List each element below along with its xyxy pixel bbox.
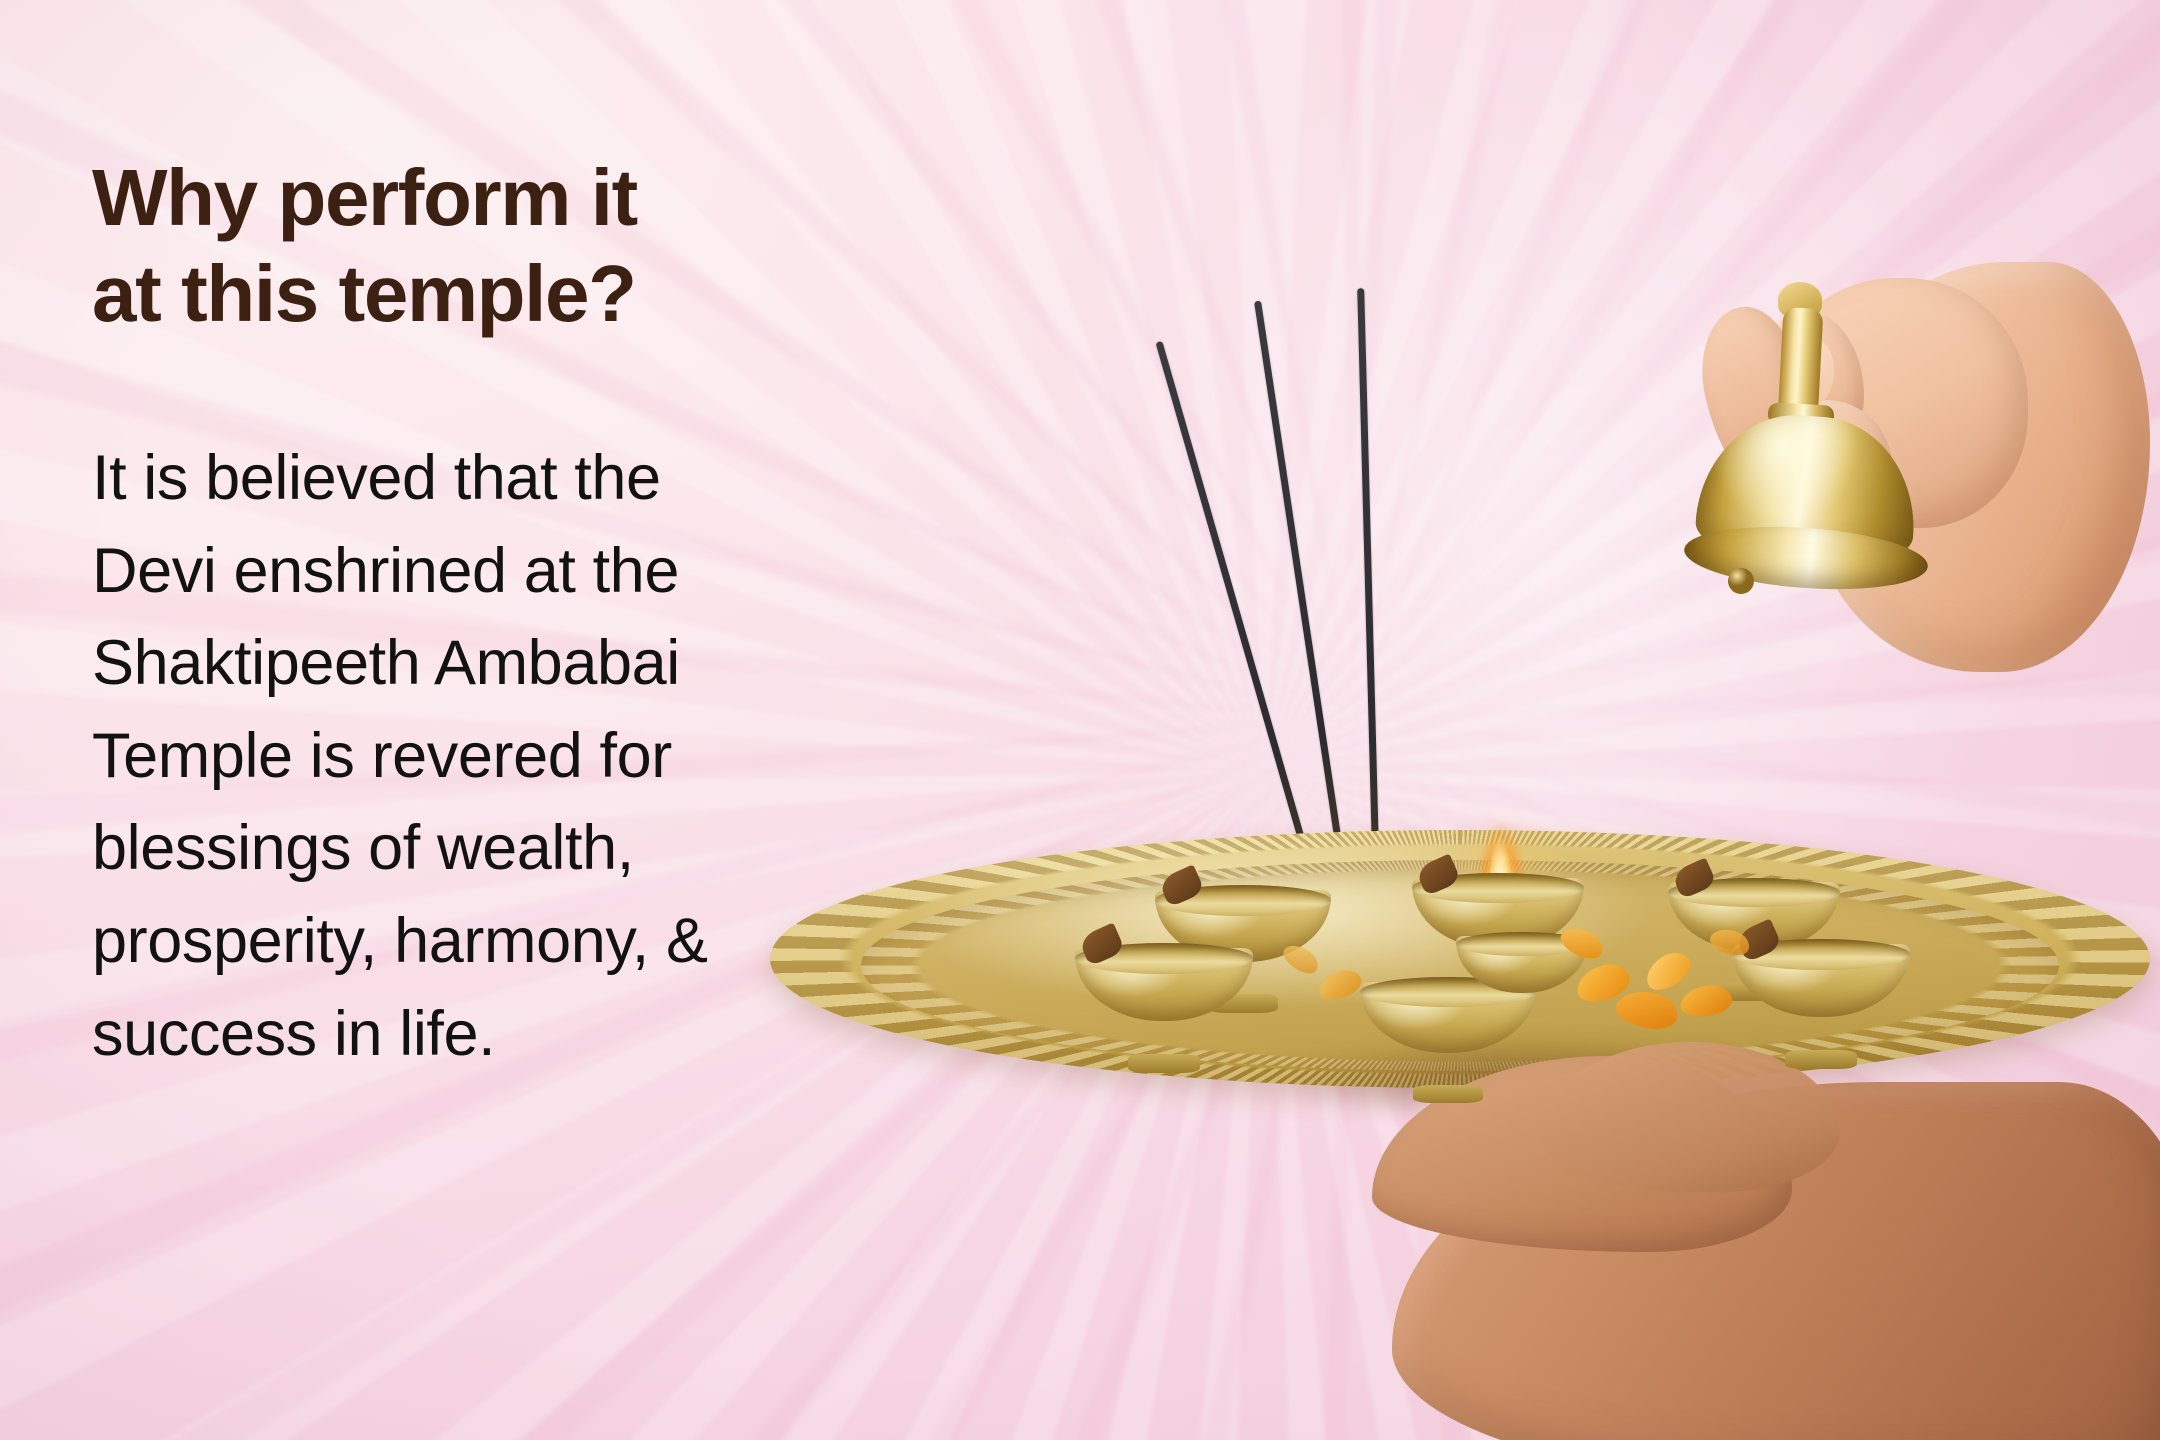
bowl-foot xyxy=(1413,1085,1483,1103)
page-title: Why perform it at this temple? xyxy=(92,150,1032,342)
slide-canvas: Why perform it at this temple? It is bel… xyxy=(0,0,2160,1440)
bowl-foot xyxy=(1785,1050,1856,1069)
diya-bowl xyxy=(1732,944,1910,1062)
puja-photo xyxy=(1020,230,2160,1440)
bell-clapper xyxy=(1728,568,1754,594)
diya-bowl xyxy=(1075,948,1253,1066)
bowl-foot xyxy=(1128,1054,1199,1073)
hand-holding-bell-icon xyxy=(1532,252,2132,682)
brass-bell-icon xyxy=(1668,282,1938,612)
